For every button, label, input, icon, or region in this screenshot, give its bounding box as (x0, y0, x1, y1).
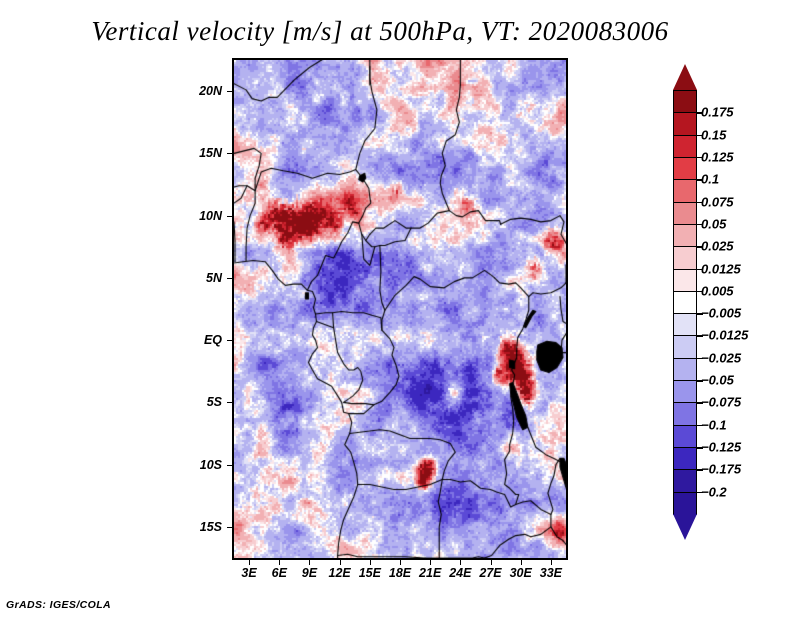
colorbar-tick-label: −0.05 (701, 373, 734, 388)
colorbar-tick-label: −0.1 (701, 417, 727, 432)
y-axis-tick-label: 5N (206, 271, 222, 285)
y-axis-tick (227, 340, 232, 341)
x-axis-tick (430, 560, 431, 565)
y-axis-tick (227, 527, 232, 528)
x-axis-tick (460, 560, 461, 565)
colorbar-band (673, 425, 697, 449)
y-axis-tick-label: EQ (204, 333, 222, 347)
colorbar-tick-label: 0.0125 (701, 261, 741, 276)
x-axis-tick (491, 560, 492, 565)
colorbar-tick-label: −0.025 (701, 350, 741, 365)
y-axis-tick-label: 10N (199, 209, 222, 223)
colorbar-band (673, 202, 697, 226)
x-axis-tick (370, 560, 371, 565)
colorbar-band (673, 335, 697, 359)
colorbar-band (673, 135, 697, 159)
x-axis-tick (551, 560, 552, 565)
colorbar-band (673, 402, 697, 426)
colorbar-tick-label: 0.1 (701, 172, 719, 187)
colorbar-tick-label: 0.005 (701, 283, 734, 298)
x-axis-tick-label: 15E (359, 566, 381, 580)
y-axis-tick-label: 20N (199, 84, 222, 98)
x-axis-tick (279, 560, 280, 565)
x-axis-tick-label: 27E (479, 566, 501, 580)
colorbar-band (673, 269, 697, 293)
x-axis-tick-label: 24E (449, 566, 471, 580)
colorbar-tick-label: −0.005 (701, 306, 741, 321)
y-axis-tick (227, 402, 232, 403)
x-axis-tick (249, 560, 250, 565)
y-axis-tick-label: 15S (200, 520, 222, 534)
x-axis-tick-label: 6E (272, 566, 287, 580)
colorbar-tick-label: −0.175 (701, 462, 741, 477)
y-axis-tick (227, 153, 232, 154)
y-axis-tick (227, 216, 232, 217)
page-title: Vertical velocity [m/s] at 500hPa, VT: 2… (0, 16, 760, 47)
colorbar-extend-min-arrow (673, 514, 697, 540)
plot-frame (232, 58, 568, 560)
y-axis-tick-label: 10S (200, 458, 222, 472)
x-axis-tick-label: 33E (540, 566, 562, 580)
colorbar-band (673, 358, 697, 382)
colorbar-tick-label: −0.125 (701, 440, 741, 455)
y-axis-tick-label: 15N (199, 146, 222, 160)
y-axis-tick (227, 278, 232, 279)
x-axis-tick (400, 560, 401, 565)
colorbar-band (673, 224, 697, 248)
x-axis-tick-label: 21E (419, 566, 441, 580)
colorbar-tick-label: −0.075 (701, 395, 741, 410)
y-axis-tick (227, 91, 232, 92)
x-axis-tick-label: 30E (510, 566, 532, 580)
footer-credit: GrADS: IGES/COLA (6, 599, 111, 611)
colorbar (673, 90, 697, 514)
colorbar-band (673, 313, 697, 337)
x-axis-tick-label: 3E (241, 566, 256, 580)
colorbar-tick-label: −0.2 (701, 484, 727, 499)
x-axis-tick-label: 9E (302, 566, 317, 580)
colorbar-tick-label: 0.15 (701, 127, 726, 142)
colorbar-tick-label: 0.175 (701, 105, 734, 120)
colorbar-tick-label: −0.0125 (701, 328, 748, 343)
y-axis-tick-label: 5S (207, 395, 222, 409)
x-axis-tick-label: 12E (329, 566, 351, 580)
colorbar-extend-max-arrow (673, 64, 697, 90)
colorbar-band (673, 246, 697, 270)
x-axis-tick (309, 560, 310, 565)
colorbar-band (673, 90, 697, 114)
colorbar-band (673, 157, 697, 181)
colorbar-band (673, 112, 697, 136)
y-axis-tick (227, 465, 232, 466)
colorbar-band (673, 179, 697, 203)
colorbar-band (673, 492, 697, 516)
colorbar-tick-label: 0.075 (701, 194, 734, 209)
colorbar-band (673, 447, 697, 471)
x-axis-tick (340, 560, 341, 565)
map-boundaries-overlay (234, 60, 566, 558)
colorbar-tick-label: 0.025 (701, 239, 734, 254)
colorbar-band (673, 380, 697, 404)
x-axis-tick (521, 560, 522, 565)
x-axis-tick-label: 18E (389, 566, 411, 580)
colorbar-band (673, 291, 697, 315)
colorbar-tick-label: 0.125 (701, 149, 734, 164)
colorbar-band (673, 469, 697, 493)
colorbar-tick-label: 0.05 (701, 216, 726, 231)
plot-area (232, 58, 568, 560)
